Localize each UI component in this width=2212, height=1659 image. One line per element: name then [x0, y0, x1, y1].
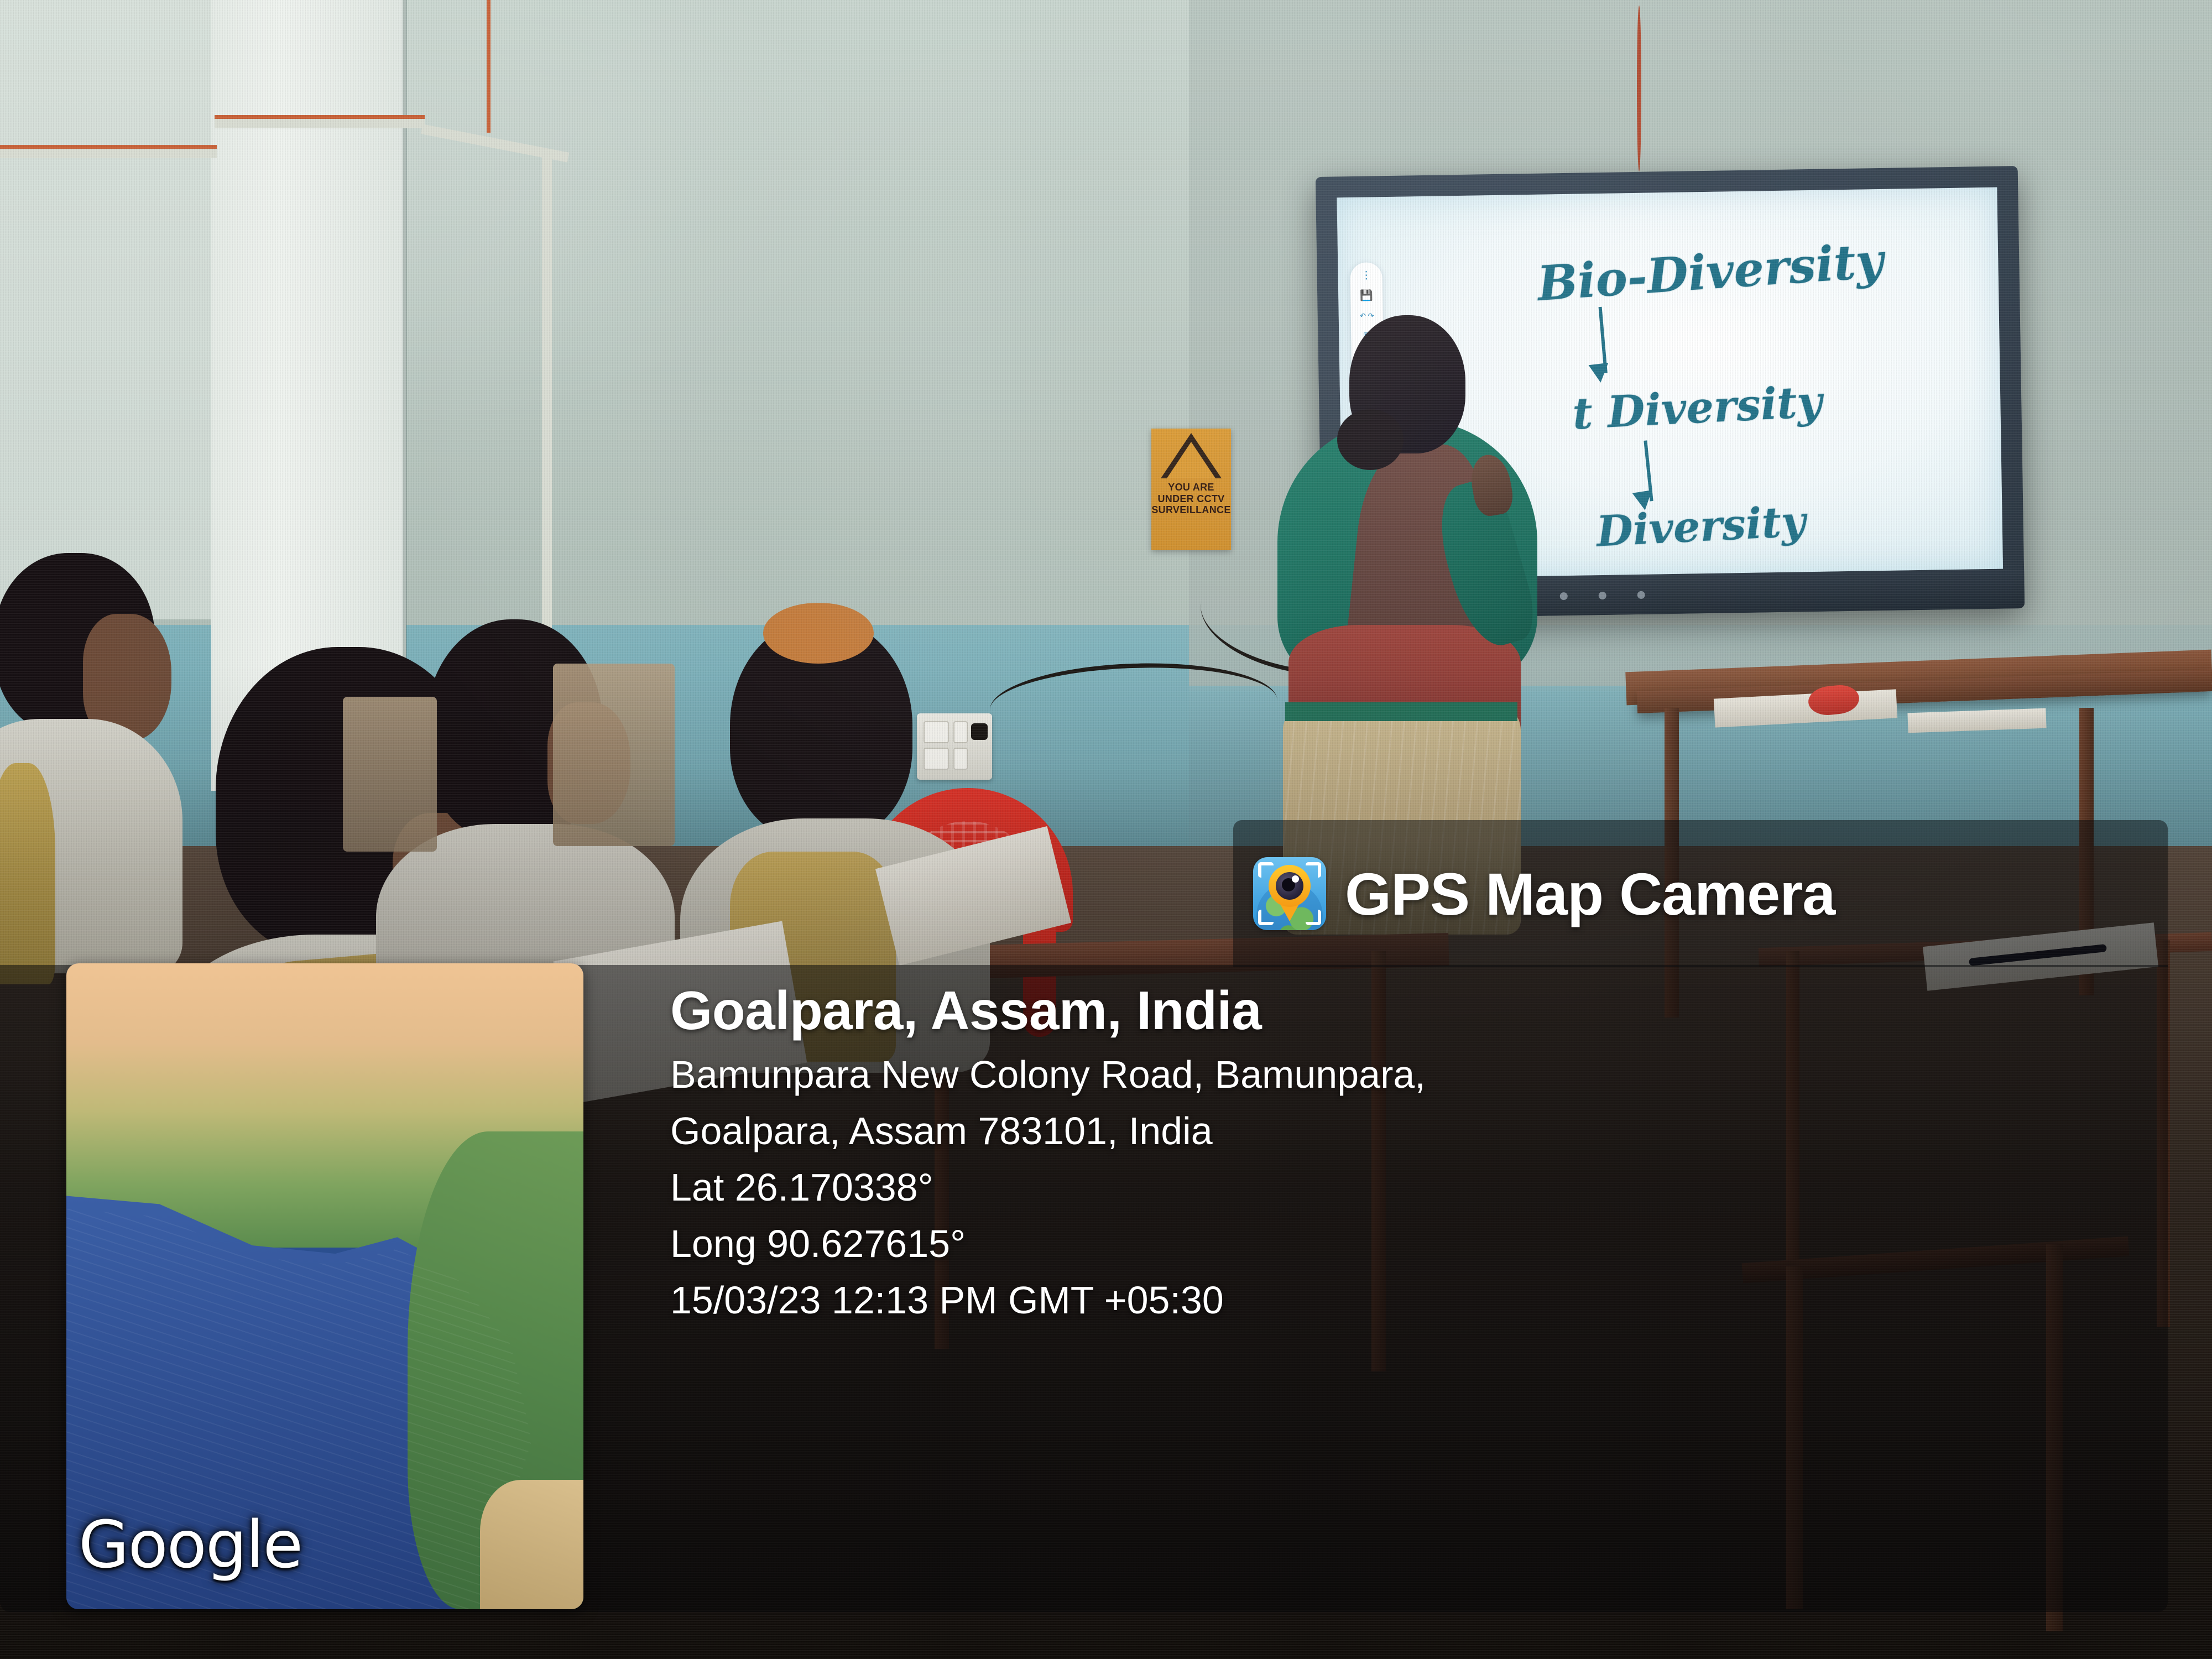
conduit-horizontal-left: [0, 148, 217, 158]
student-1-dupatta: [0, 763, 55, 984]
more-icon[interactable]: ⋮: [1358, 269, 1374, 282]
location-longitude: Long 90.627615°: [670, 1215, 2163, 1272]
chin-button-3[interactable]: [1637, 591, 1645, 599]
cctv-sign-text: YOU ARE UNDER CCTV SURVEILLANCE: [1151, 482, 1230, 516]
location-address-line-2: Goalpara, Assam 783101, India: [670, 1103, 2163, 1159]
conduit-stripe-mid: [215, 115, 425, 119]
student-1: [0, 553, 177, 940]
lens-glint-icon: [1292, 875, 1299, 883]
viewfinder-corner-tl-icon: [1258, 862, 1274, 878]
chin-button-1[interactable]: [1560, 592, 1568, 600]
location-latitude: Lat 26.170338°: [670, 1159, 2163, 1215]
location-place: Goalpara, Assam, India: [670, 979, 2163, 1043]
conduit-horizontal-mid: [215, 118, 425, 128]
cctv-camera-icon: [1176, 448, 1204, 469]
cctv-line-3: SURVEILLANCE: [1151, 504, 1230, 516]
map-landmass-southeast: [480, 1480, 583, 1609]
teacher-hair-bun: [1337, 409, 1404, 470]
conduit-vertical-top: [487, 0, 491, 133]
gps-map-camera-photo: YOU ARE UNDER CCTV SURVEILLANCE ⋮ 💾 ↶ ↷ …: [0, 0, 2212, 1659]
gps-location-details: Goalpara, Assam, India Bamunpara New Col…: [670, 979, 2163, 1329]
app-title: GPS Map Camera: [1345, 859, 1835, 928]
map-thumbnail[interactable]: Google: [66, 963, 583, 1609]
student-4-hair-clip: [763, 603, 874, 664]
display-wall-cord: [1637, 6, 1641, 171]
location-timestamp: 15/03/23 12:13 PM GMT +05:30: [670, 1272, 2163, 1328]
wooden-chair-1: [553, 664, 675, 846]
chin-button-2[interactable]: [1599, 592, 1606, 599]
gps-map-camera-icon: [1253, 857, 1326, 930]
google-attribution: Google: [79, 1506, 302, 1583]
warning-triangle-icon: [1161, 433, 1222, 478]
viewfinder-corner-br-icon: [1306, 910, 1321, 925]
viewfinder-corner-tr-icon: [1306, 862, 1321, 878]
whiteboard-text-line-3: Diversity: [1595, 497, 1807, 556]
gps-app-header: GPS Map Camera: [1233, 820, 2168, 967]
wooden-chair-2: [343, 697, 437, 852]
whiteboard-arrow-1-head: [1589, 363, 1611, 384]
viewfinder-corner-bl-icon: [1258, 910, 1274, 925]
conduit-stripe-left: [0, 145, 217, 149]
save-icon[interactable]: 💾: [1358, 289, 1375, 302]
cctv-warning-sign: YOU ARE UNDER CCTV SURVEILLANCE: [1151, 429, 1231, 550]
wall-panel-left: [0, 0, 216, 619]
whiteboard-text-line-1: Bio-Diversity: [1536, 233, 1885, 312]
socket-plug: [971, 723, 988, 740]
teacher-figure: [1266, 315, 1554, 901]
whiteboard-text-line-2: t Diversity: [1571, 377, 1823, 440]
teacher-saree-band: [1285, 702, 1517, 721]
cctv-line-1: YOU ARE: [1151, 482, 1230, 493]
location-address-line-1: Bamunpara New Colony Road, Bamunpara,: [670, 1046, 2163, 1103]
cctv-line-2: UNDER CCTV: [1151, 493, 1230, 505]
